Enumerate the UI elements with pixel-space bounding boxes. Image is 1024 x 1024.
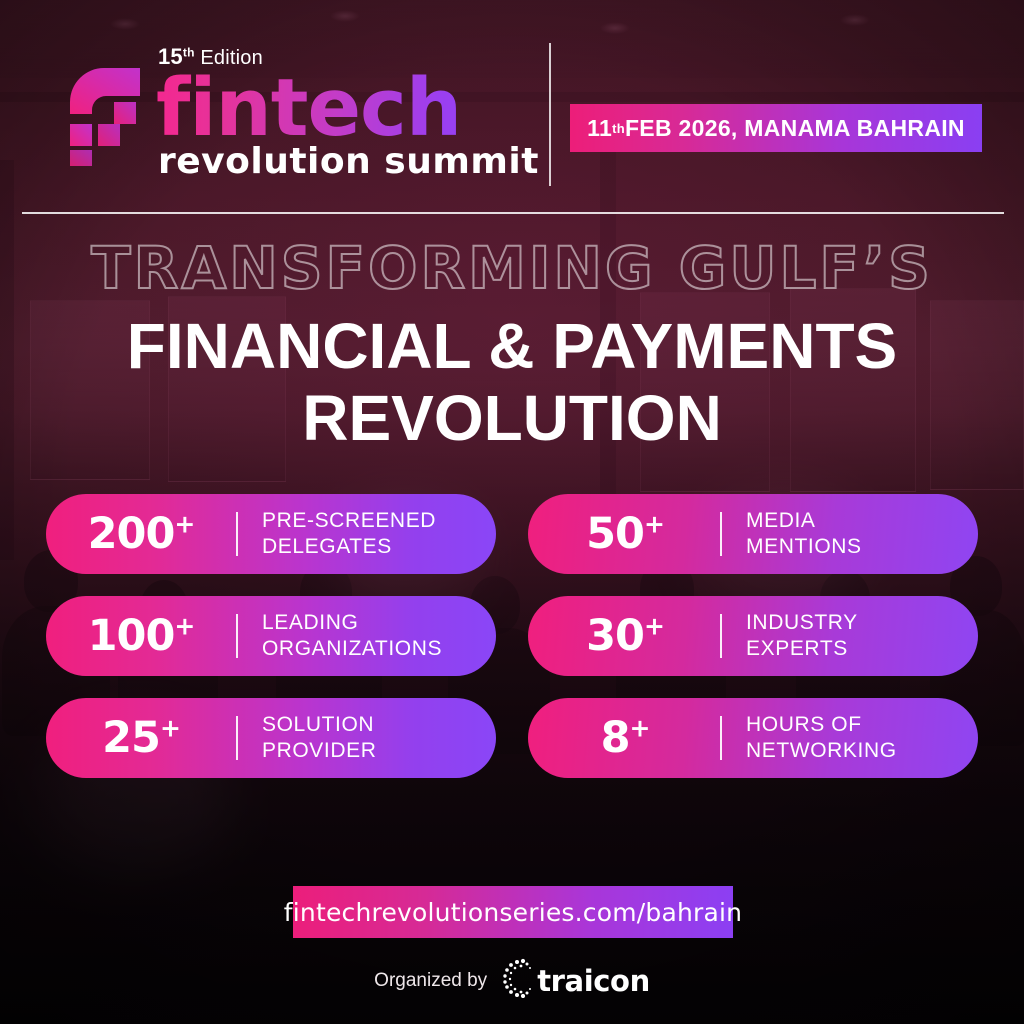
stat-plus: + — [629, 714, 649, 743]
stat-plus: + — [644, 510, 664, 539]
website-url-bar[interactable]: fintechrevolutionseries.com/bahrain — [293, 886, 733, 938]
organized-by-label: Organized by — [374, 970, 487, 992]
stats-row: 200+ PRE-SCREENED DELEGATES 50+ MEDIA ME… — [46, 494, 978, 574]
stat-label: MEDIA MENTIONS — [722, 508, 862, 560]
stats-row: 25+ SOLUTION PROVIDER 8+ HOURS OF NETWOR… — [46, 698, 978, 778]
stat-label-line-1: PRE-SCREENED — [262, 508, 436, 534]
header-vertical-divider — [549, 43, 551, 186]
stat-label-line-1: SOLUTION — [262, 712, 377, 738]
stat-label: INDUSTRY EXPERTS — [722, 610, 858, 662]
event-date-location-badge: 11th FEB 2026, MANAMA BAHRAIN — [570, 104, 982, 152]
stat-label-line-1: LEADING — [262, 610, 442, 636]
stat-value: 8+ — [530, 713, 720, 763]
stat-label-line-2: PROVIDER — [262, 738, 377, 764]
brand-name-secondary: revolution summit — [158, 141, 539, 182]
stat-number: 100 — [88, 611, 175, 661]
event-date-location: FEB 2026, MANAMA BAHRAIN — [625, 115, 965, 142]
stat-label-line-2: EXPERTS — [746, 636, 858, 662]
edition-ordinal: th — [183, 45, 195, 59]
organizer-logo[interactable]: traicon — [501, 958, 650, 1003]
stat-label: PRE-SCREENED DELEGATES — [238, 508, 436, 560]
stat-label-line-1: MEDIA — [746, 508, 862, 534]
stat-value: 200+ — [46, 509, 236, 559]
stat-value: 30+ — [530, 611, 720, 661]
stat-number: 50 — [586, 509, 644, 559]
header-horizontal-rule — [22, 212, 1004, 214]
stat-value: 50+ — [530, 509, 720, 559]
stats-grid: 200+ PRE-SCREENED DELEGATES 50+ MEDIA ME… — [46, 494, 978, 800]
stat-number: 8 — [601, 713, 630, 763]
poster-content: 15th Edition fintech revolution summit 1… — [0, 0, 1024, 1024]
stat-pill-hours-of-networking[interactable]: 8+ HOURS OF NETWORKING — [528, 698, 978, 778]
stat-plus: + — [160, 714, 180, 743]
stat-label-line-2: ORGANIZATIONS — [262, 636, 442, 662]
headline-solid-text: FINANCIAL & PAYMENTS REVOLUTION — [0, 311, 1024, 454]
headline-outline-text: TRANSFORMING GULF’S — [0, 238, 1024, 299]
event-day-ordinal: th — [612, 121, 625, 136]
stat-label-line-2: MENTIONS — [746, 534, 862, 560]
headline-solid-line-1: FINANCIAL & PAYMENTS — [127, 310, 897, 382]
organizer-name: traicon — [537, 964, 650, 998]
stat-pill-industry-experts[interactable]: 30+ INDUSTRY EXPERTS — [528, 596, 978, 676]
stat-label-line-1: HOURS OF — [746, 712, 897, 738]
brand-wordmark: 15th Edition fintech revolution summit — [152, 44, 539, 182]
stat-number: 30 — [586, 611, 644, 661]
traicon-halftone-c-icon — [501, 958, 535, 1003]
stat-pill-leading-organizations[interactable]: 100+ LEADING ORGANIZATIONS — [46, 596, 496, 676]
brand-logo[interactable]: 15th Edition fintech revolution summit — [58, 44, 539, 182]
headline-block: TRANSFORMING GULF’S FINANCIAL & PAYMENTS… — [0, 238, 1024, 454]
event-day: 11 — [587, 115, 612, 142]
stat-label-line-1: INDUSTRY — [746, 610, 858, 636]
poster-footer: Organized by — [0, 958, 1024, 1003]
poster-header: 15th Edition fintech revolution summit 1… — [0, 0, 1024, 200]
stat-value: 100+ — [46, 611, 236, 661]
event-poster: 15th Edition fintech revolution summit 1… — [0, 0, 1024, 1024]
stat-number: 200 — [88, 509, 175, 559]
stat-pill-media-mentions[interactable]: 50+ MEDIA MENTIONS — [528, 494, 978, 574]
stat-pill-delegates[interactable]: 200+ PRE-SCREENED DELEGATES — [46, 494, 496, 574]
brand-name-primary: fintech — [156, 72, 539, 145]
stat-number: 25 — [102, 713, 160, 763]
stat-label-line-2: NETWORKING — [746, 738, 897, 764]
stat-plus: + — [644, 612, 664, 641]
stat-plus: + — [174, 612, 194, 641]
stat-plus: + — [174, 510, 194, 539]
stat-value: 25+ — [46, 713, 236, 763]
stat-label: SOLUTION PROVIDER — [238, 712, 377, 764]
stats-row: 100+ LEADING ORGANIZATIONS 30+ INDUSTRY … — [46, 596, 978, 676]
fintech-f-pixel-logo-icon — [58, 62, 144, 166]
stat-label: LEADING ORGANIZATIONS — [238, 610, 442, 662]
stat-pill-solution-provider[interactable]: 25+ SOLUTION PROVIDER — [46, 698, 496, 778]
headline-solid-line-2: REVOLUTION — [0, 383, 1024, 455]
stat-label: HOURS OF NETWORKING — [722, 712, 897, 764]
stat-label-line-2: DELEGATES — [262, 534, 436, 560]
